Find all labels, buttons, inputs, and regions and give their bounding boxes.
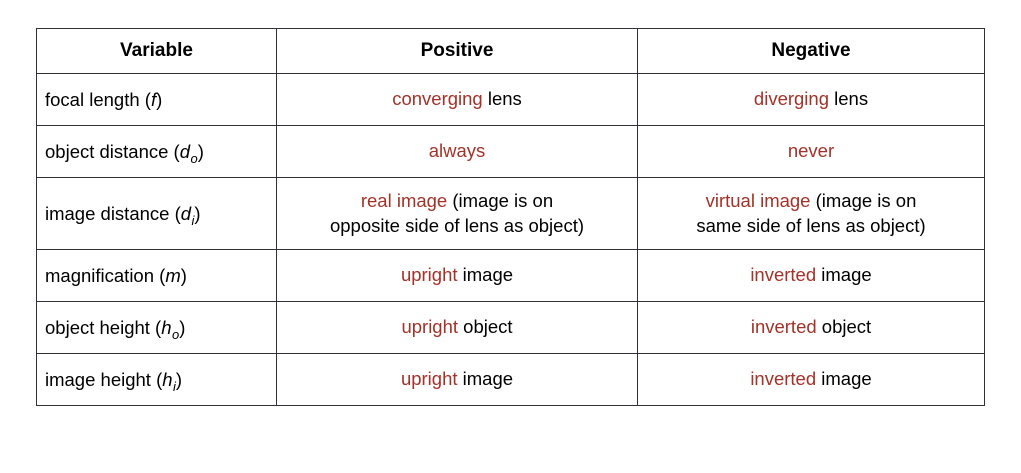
negative-highlight-text: inverted [750,368,816,389]
table-body: focal length (f)converging lensdiverging… [37,74,985,406]
variable-label-cell: magnification (m) [37,250,277,302]
column-header-positive: Positive [277,29,638,74]
variable-label-cell: object height (ho) [37,302,277,354]
positive-value-cell: upright image [277,354,638,406]
negative-highlight-text: never [788,140,834,161]
variable-label-cell: image height (hi) [37,354,277,406]
negative-value-cell: inverted image [638,250,985,302]
variable-symbol: d [181,203,191,224]
variable-suffix: ) [179,317,185,338]
positive-rest-text: object [458,316,513,337]
negative-highlight-text: diverging [754,88,829,109]
negative-rest-text: lens [829,88,868,109]
positive-highlight-text: real image [361,190,447,211]
positive-rest-text: (image is on [447,190,553,211]
table-row: object distance (do)alwaysnever [37,126,985,178]
variable-symbol: h [162,369,172,390]
negative-rest-text: image [816,368,872,389]
table-row: object height (ho)upright objectinverted… [37,302,985,354]
variable-symbol: m [165,265,180,286]
positive-rest-text: lens [483,88,522,109]
positive-rest-text: image [458,368,514,389]
variable-name-text: image height ( [45,369,162,390]
negative-highlight-text: inverted [751,316,817,337]
negative-rest-text: object [817,316,872,337]
variable-name-text: image distance ( [45,203,181,224]
variable-suffix: ) [181,265,187,286]
variable-suffix: ) [156,89,162,110]
variable-symbol: d [180,141,190,162]
negative-second-line-text: same side of lens as object) [696,215,925,236]
column-header-negative: Negative [638,29,985,74]
positive-value-cell: real image (image is onopposite side of … [277,178,638,250]
variable-symbol: h [161,317,171,338]
negative-highlight-text: virtual image [706,190,811,211]
negative-highlight-text: inverted [750,264,816,285]
positive-highlight-text: upright [401,264,458,285]
positive-value-cell: upright image [277,250,638,302]
table-header-row: Variable Positive Negative [37,29,985,74]
variable-name-text: object height ( [45,317,161,338]
variable-name-text: object distance ( [45,141,180,162]
negative-value-cell: inverted image [638,354,985,406]
variable-label-cell: image distance (di) [37,178,277,250]
positive-highlight-text: always [429,140,486,161]
positive-value-cell: always [277,126,638,178]
table-row: focal length (f)converging lensdiverging… [37,74,985,126]
variable-suffix: ) [176,369,182,390]
positive-highlight-text: upright [401,316,458,337]
positive-value-cell: upright object [277,302,638,354]
positive-rest-text: image [458,264,514,285]
positive-value-cell: converging lens [277,74,638,126]
variable-suffix: ) [194,203,200,224]
negative-value-cell: diverging lens [638,74,985,126]
variable-name-text: focal length ( [45,89,151,110]
negative-rest-text: image [816,264,872,285]
negative-value-cell: never [638,126,985,178]
table-row: image distance (di)real image (image is … [37,178,985,250]
negative-value-cell: virtual image (image is onsame side of l… [638,178,985,250]
table-row: image height (hi)upright imageinverted i… [37,354,985,406]
positive-second-line-text: opposite side of lens as object) [330,215,584,236]
negative-value-cell: inverted object [638,302,985,354]
variable-suffix: ) [198,141,204,162]
positive-highlight-text: upright [401,368,458,389]
negative-rest-text: (image is on [810,190,916,211]
variable-name-text: magnification ( [45,265,165,286]
table-row: magnification (m)upright imageinverted i… [37,250,985,302]
variable-subscript: o [190,151,198,166]
column-header-variable: Variable [37,29,277,74]
sign-convention-table: Variable Positive Negative focal length … [36,28,985,406]
variable-label-cell: object distance (do) [37,126,277,178]
table-header: Variable Positive Negative [37,29,985,74]
positive-highlight-text: converging [392,88,483,109]
variable-label-cell: focal length (f) [37,74,277,126]
